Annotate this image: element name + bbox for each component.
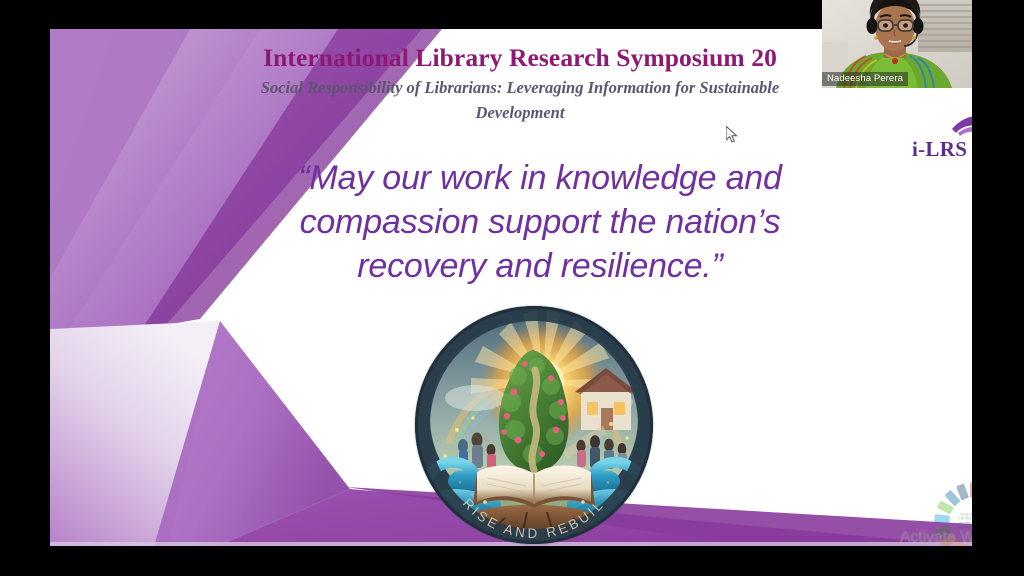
sdg-line-3: GOALS (954, 522, 972, 531)
quote-line-1: “May our work in knowledge and (250, 157, 830, 201)
screen-root: International Library Research Symposium… (0, 0, 1024, 576)
sdg-center-label: SUSTAINABLE DEVELOPMENT GOALS (954, 513, 972, 530)
webcam-tile[interactable]: Nadeesha Perera (822, 0, 972, 88)
arise-and-rebuild-emblem: ARISE AND REBUILD (415, 306, 653, 544)
emblem-artwork: ARISE AND REBUILD (415, 306, 653, 544)
ilrs-event-tag: i-LRS 2025 (912, 137, 972, 162)
quote-line-2: compassion support the nation’s (250, 201, 830, 245)
presentation-slide: International Library Research Symposium… (50, 29, 972, 546)
sdg-wheel-logo: SUSTAINABLE DEVELOPMENT GOALS (930, 478, 972, 546)
ilrs-ribbon-graphic (950, 111, 972, 137)
slide-title-block: International Library Research Symposium… (160, 43, 880, 126)
emblem-container: ARISE AND REBUILD (415, 306, 655, 546)
page-title: International Library Research Symposium… (160, 43, 880, 72)
quote-text: “May our work in knowledge and compassio… (250, 157, 830, 289)
participant-name-label: Nadeesha Perera (822, 72, 908, 86)
letterbox-right (972, 0, 1024, 576)
slide-subtitle: Social Responsibility of Librarians: Lev… (260, 76, 780, 126)
quote-line-3: recovery and resilience.” (250, 245, 830, 289)
